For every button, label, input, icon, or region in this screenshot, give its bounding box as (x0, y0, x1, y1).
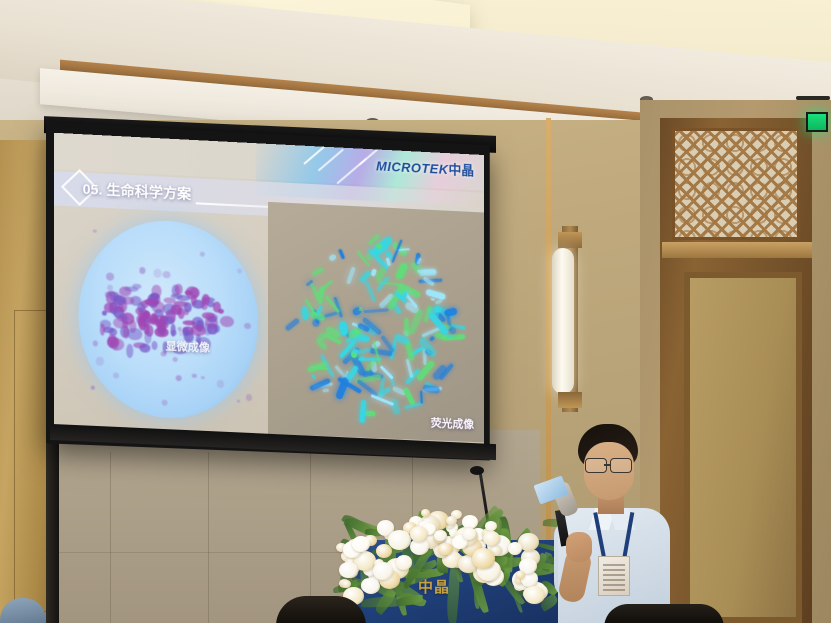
stained-cell-outlier (163, 270, 171, 278)
fluorescent-particle (423, 384, 441, 393)
stained-cell-outlier (200, 252, 205, 257)
fluorescent-particle (302, 307, 308, 320)
flower-blossom (352, 536, 370, 552)
fluorescent-particle (396, 262, 409, 280)
fluorescent-particle (328, 253, 337, 261)
stained-cell (126, 344, 133, 358)
fluorescent-particle (390, 398, 401, 415)
stained-cell (164, 316, 175, 324)
fluorescent-particle (338, 248, 345, 258)
projected-slide: MICROTEK中晶 05. 生命科学方案 显微成像 荧光成像 (54, 133, 484, 449)
microscopy-image (64, 210, 266, 430)
badge-text-lines (603, 561, 625, 591)
flower-blossom (438, 543, 453, 556)
fluorescent-particle (340, 322, 349, 337)
wall-sconce-light (552, 248, 574, 394)
stained-cell (212, 301, 221, 313)
flower-blossom (339, 562, 358, 579)
wall-seam (208, 452, 209, 623)
caption-fluorescence: 荧光成像 (431, 414, 474, 432)
fluorescent-particle (346, 266, 356, 285)
stained-cell (144, 298, 158, 306)
fluorescent-particle (430, 298, 435, 301)
door-panel[interactable] (684, 272, 802, 623)
stained-cell (220, 315, 234, 327)
fluorescent-particle (284, 318, 300, 332)
flower-arrangement (330, 492, 544, 598)
fluorescent-particle (311, 374, 316, 379)
stained-cell (202, 312, 215, 320)
stained-cell-outlier (217, 380, 225, 388)
stained-cell-outlier (237, 399, 240, 403)
stained-cell (171, 304, 181, 315)
fluorescent-particle (420, 391, 423, 404)
presenter-badge (598, 556, 630, 596)
flower-blossom (446, 516, 457, 526)
flower-blossom (362, 578, 380, 594)
exit-sign-bracket (796, 96, 830, 100)
stained-cell (113, 317, 127, 329)
flower-blossom (396, 555, 413, 570)
conference-photo-scene: MICROTEK中晶 05. 生命科学方案 显微成像 荧光成像 中晶 (0, 0, 831, 623)
lattice-circle-pattern (675, 131, 797, 237)
fluorescent-particle (323, 388, 329, 391)
fluorescent-particle (379, 377, 385, 398)
stained-cell-outlier (95, 357, 104, 366)
podium-microphone-head-icon (470, 466, 484, 475)
fluorescent-particle (363, 309, 388, 314)
stained-cell-outlier (173, 357, 178, 362)
stained-cell (214, 325, 220, 333)
slide-section-number: 05. (83, 181, 103, 198)
fluorescent-particle (444, 307, 458, 317)
fluorescent-particle (408, 309, 423, 335)
wall-seam (110, 452, 111, 623)
stained-cell-outlier (178, 327, 182, 331)
flower-blossom (463, 528, 477, 540)
decorative-lattice-panel (672, 128, 800, 240)
flower-blossom (373, 562, 394, 580)
stained-cell (202, 294, 210, 305)
fluorescent-particle (313, 320, 320, 327)
stained-cell (191, 325, 205, 336)
flower-blossom (472, 548, 495, 568)
audience-head-center (276, 596, 366, 623)
wall-sconce-cap-bottom (558, 392, 582, 408)
exit-sign-icon (806, 112, 828, 132)
fluorescent-particle (425, 289, 446, 300)
slide-title-text: 生命科学方案 (106, 182, 191, 202)
fluorescent-particle (312, 267, 324, 276)
stained-cell (174, 284, 182, 295)
stained-cell-outlier (244, 323, 250, 329)
caption-microscopic: 显微成像 (166, 337, 210, 355)
stained-cell-outlier (92, 340, 98, 346)
stained-cell-outlier (90, 386, 94, 390)
stained-cell-outlier (93, 229, 97, 233)
stained-cell-outlier (246, 394, 252, 401)
fluorescent-particle (365, 411, 376, 417)
flower-blossom (485, 521, 497, 531)
stained-cell-outlier (176, 375, 182, 381)
fluorescent-particle (435, 299, 442, 304)
fluorescent-particle (317, 286, 324, 305)
fluorescent-particle (365, 281, 376, 302)
fluorescent-particle (406, 359, 413, 378)
flower-blossom (508, 542, 522, 555)
stained-cell (143, 311, 150, 318)
fluorescent-particle (359, 400, 366, 423)
stained-cell (144, 331, 152, 344)
glasses-icon (610, 458, 632, 473)
stained-cell-outlier (139, 267, 146, 274)
stained-cell (152, 340, 158, 349)
foreground-dark-object (604, 604, 724, 623)
fluorescent-particle (404, 318, 408, 335)
stained-cell-outlier (237, 268, 242, 273)
presenter (540, 424, 680, 623)
presenter-hand (566, 532, 592, 562)
stained-cell (127, 328, 142, 341)
stained-cell-outlier (153, 269, 161, 278)
fluorescent-particle (402, 387, 415, 405)
stained-cell-outlier (192, 373, 197, 378)
door-rail (660, 256, 814, 263)
fluorescence-image: 荧光成像 (268, 202, 484, 443)
glasses-bridge-icon (604, 464, 611, 466)
wall-sconce-cap-top (558, 232, 582, 248)
flower-blossom (434, 530, 447, 541)
logo-text-en: MICROTEK (376, 158, 448, 177)
logo-text-cn: 中晶 (448, 162, 474, 178)
